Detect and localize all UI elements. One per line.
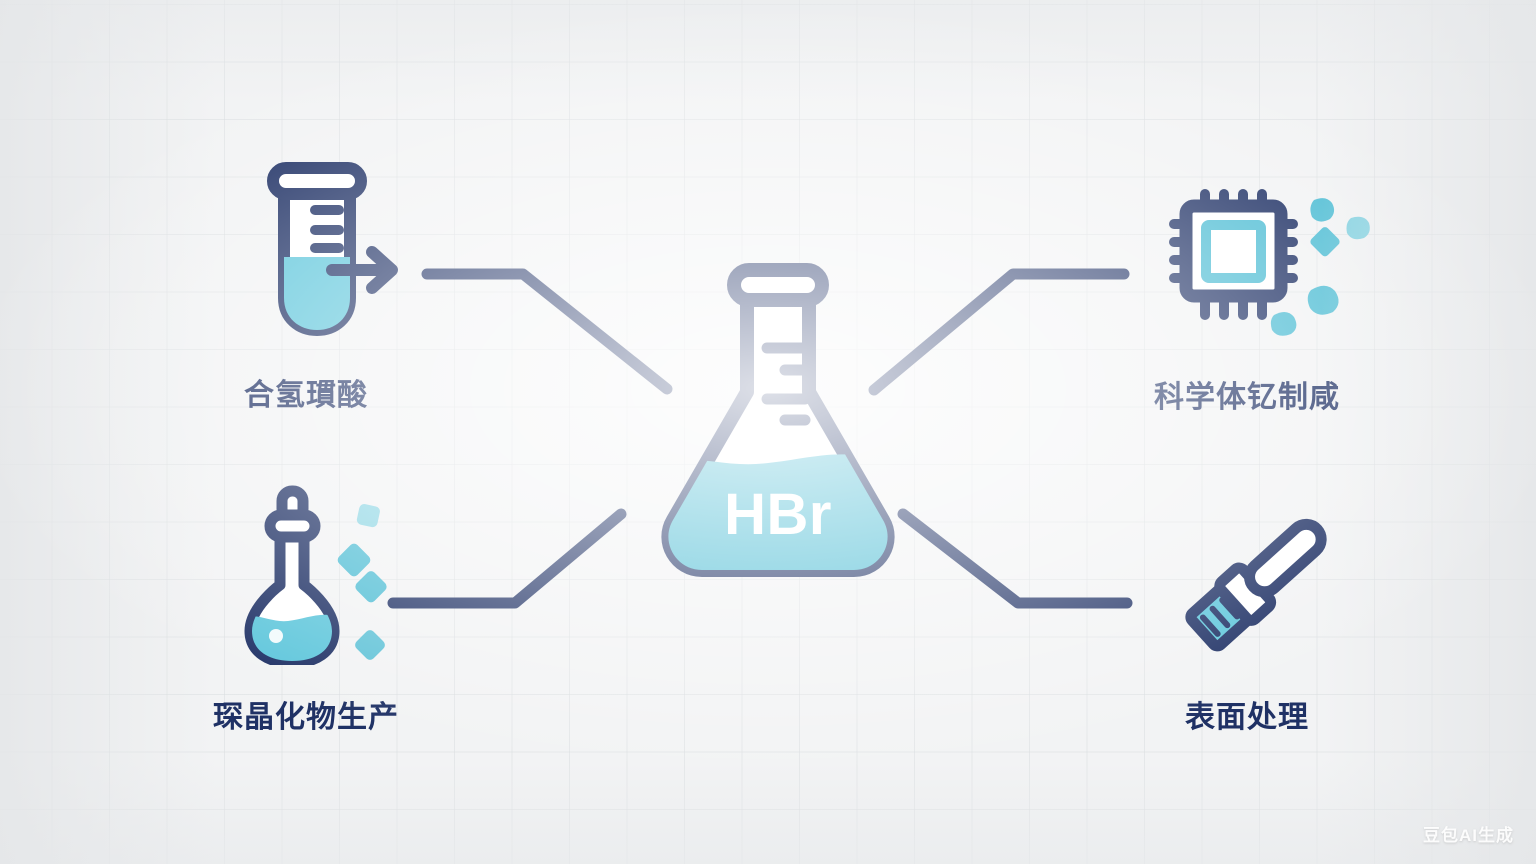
label-top-right: 科学体钇制咸	[1154, 372, 1340, 416]
watermark-label: 豆包AI生成	[1423, 821, 1514, 846]
brush-handle	[1243, 518, 1327, 598]
liquid-bubble	[269, 629, 283, 643]
test-tube-arrow-icon	[258, 160, 408, 340]
connector-bottom-right	[903, 514, 1127, 603]
label-bottom-right: 表面处理	[1185, 692, 1309, 736]
connector-bottom-left	[393, 514, 621, 603]
test-tube-rim	[273, 168, 361, 194]
chip-core	[1206, 225, 1261, 278]
label-top-left: 合氢瑻酸	[244, 370, 368, 414]
microchip-particles-icon	[1162, 182, 1377, 347]
flask-collar	[270, 515, 315, 537]
connector-top-left	[427, 274, 667, 389]
paint-brush-icon	[1168, 505, 1348, 655]
label-bottom-left: 琛晶化物生产	[213, 692, 399, 736]
diagram-canvas: HBr 合氢瑻酸	[0, 0, 1536, 864]
erlenmeyer-flask-icon	[646, 252, 910, 596]
connector-top-right	[874, 274, 1124, 390]
flask-rim	[734, 270, 822, 300]
crystal-particles	[336, 503, 389, 662]
round-flask-crystals-icon	[240, 485, 405, 665]
